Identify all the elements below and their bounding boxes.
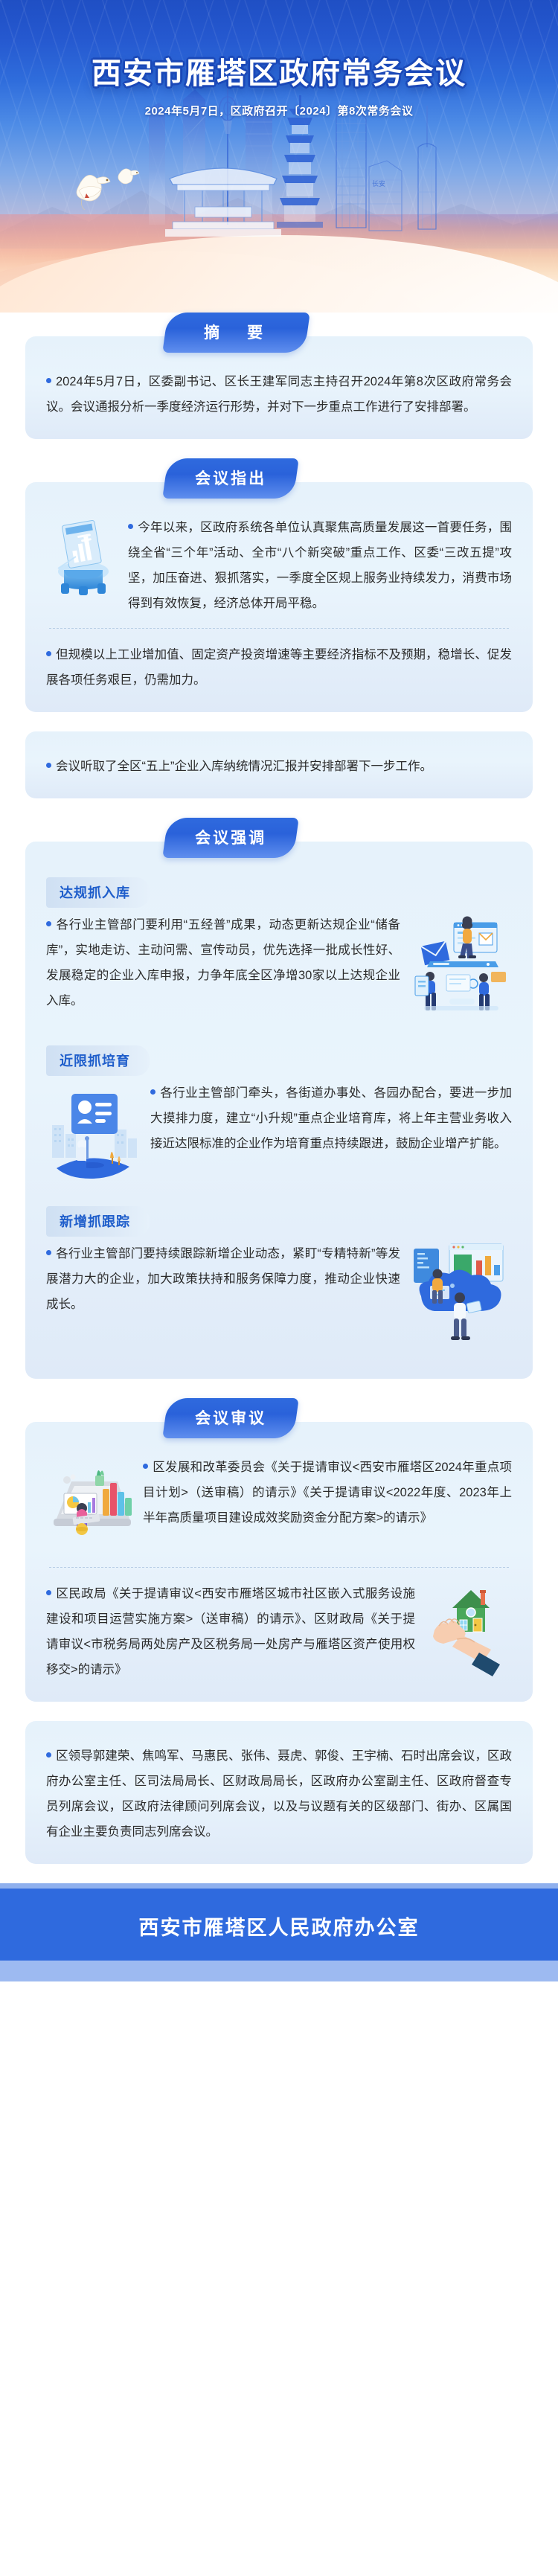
attendees-card: 区领导郭建荣、焦鸣军、马惠民、张伟、聂虎、郭俊、王宇楠、石时出席会议，区政府办公… (25, 1721, 533, 1864)
deliberated-text-column-2: 区民政局《关于提请审议<西安市雁塔区城市社区嵌入式服务设施建设和项目运营实施方案… (46, 1581, 415, 1682)
section-badge-pointed-out-label: 会议指出 (195, 467, 266, 489)
bullet-dot-icon (143, 1464, 148, 1469)
subsection-row-2: 各行业主管部门牵头，各街道办事处、各园办配合，要进一步加大摸排力度，建立“小升规… (46, 1080, 512, 1188)
bullet-dot-icon (46, 921, 51, 926)
bullet-dot-icon (46, 1752, 51, 1758)
subsection-title-new-tracking: 新增抓跟踪 (46, 1206, 150, 1237)
subsection-near-threshold: 近限抓培育 (46, 1042, 512, 1188)
section-badge-emphasized-label: 会议强调 (195, 826, 266, 848)
section-badge-deliberated: 会议审议 (162, 1398, 299, 1438)
section-report-heard: 会议听取了全区“五上”企业入库纳统情况汇报并安排部署下一步工作。 (0, 731, 558, 798)
bullet-dot-icon (46, 1590, 51, 1595)
deliberated-paragraph-1: 区发展和改革委员会《关于提请审议<西安市雁塔区2024年重点项目计划>（送审稿）… (143, 1455, 512, 1531)
section-badge-pointed-out: 会议指出 (162, 458, 299, 499)
deliberated-text-column-1: 区发展和改革委员会《关于提请审议<西安市雁塔区2024年重点项目计划>（送审稿）… (143, 1455, 512, 1531)
bullet-dot-icon (150, 1089, 155, 1095)
deliberated-card: 区发展和改革委员会《关于提请审议<西安市雁塔区2024年重点项目计划>（送审稿）… (25, 1422, 533, 1702)
report-heard-card: 会议听取了全区“五上”企业入库纳统情况汇报并安排部署下一步工作。 (25, 731, 533, 798)
bullet-dot-icon (128, 524, 133, 529)
pointed-out-card: 今年以来，区政府系统各单位认真聚焦高质量发展这一首要任务，围绕全省“三个年”活动… (25, 482, 533, 712)
section-emphasized: 会议强调 达规抓入库 各行业主管部门要利用“五经普”成果，动态更新达规企业“储备… (0, 818, 558, 1379)
house-in-hand-illustration (423, 1581, 512, 1682)
pointed-out-text-1: 今年以来，区政府系统各单位认真聚焦高质量发展这一首要任务，围绕全省“三个年”活动… (128, 521, 512, 610)
chart-document-on-pedestal-icon (46, 515, 121, 608)
abstract-paragraph: 2024年5月7日，区委副书记、区长王建军同志主持召开2024年第8次区政府常务… (46, 369, 512, 420)
dashed-divider (49, 628, 509, 629)
pointed-out-row: 今年以来，区政府系统各单位认真聚焦高质量发展这一首要任务，围绕全省“三个年”活动… (46, 515, 512, 616)
deliberated-row-1: 区发展和改革委员会《关于提请审议<西安市雁塔区2024年重点项目计划>（送审稿）… (46, 1455, 512, 1555)
team-collaboration-desk-illustration (408, 912, 512, 1028)
section-badge-emphasized: 会议强调 (162, 818, 299, 858)
hero-banner: 长安 西安市雁塔区政府常务会议 2024年5月7日，区政府召开〔2024〕第8次… (0, 0, 558, 313)
report-heard-paragraph: 会议听取了全区“五上”企业入库纳统情况汇报并安排部署下一步工作。 (46, 754, 512, 779)
subsection-text-2: 各行业主管部门牵头，各街道办事处、各园办配合，要进一步加大摸排力度，建立“小升规… (150, 1086, 512, 1150)
pointed-out-text-column: 今年以来，区政府系统各单位认真聚焦高质量发展这一首要任务，围绕全省“三个年”活动… (128, 515, 512, 616)
subsection-title-reach-standard: 达规抓入库 (46, 877, 150, 908)
footer-organization-name: 西安市雁塔区人民政府办公室 (139, 1912, 420, 1941)
laptop-charts-analytics-illustration (46, 1455, 135, 1555)
deliberated-row-2: 区民政局《关于提请审议<西安市雁塔区城市社区嵌入式服务设施建设和项目运营实施方案… (46, 1581, 512, 1682)
subsection-text-1: 各行业主管部门要利用“五经普”成果，动态更新达规企业“储备库”，实地走访、主动问… (46, 918, 400, 1007)
person-id-card-city-illustration (46, 1080, 143, 1188)
deliberated-text-1: 区发展和改革委员会《关于提请审议<西安市雁塔区2024年重点项目计划>（送审稿）… (143, 1461, 512, 1525)
subsection-text-column-3: 各行业主管部门要持续跟踪新增企业动态，紧盯“专精特新”等发展潜力大的企业，加大政… (46, 1241, 400, 1317)
attendees-text: 区领导郭建荣、焦鸣军、马惠民、张伟、聂虎、郭俊、王宇楠、石时出席会议，区政府办公… (46, 1749, 512, 1839)
svg-text:长安: 长安 (372, 179, 385, 188)
flying-doves-illustration (64, 156, 153, 216)
section-abstract: 摘 要 2024年5月7日，区委副书记、区长王建军同志主持召开2024年第8次区… (0, 313, 558, 439)
bullet-dot-icon (46, 651, 51, 656)
subsection-text-3: 各行业主管部门要持续跟踪新增企业动态，紧盯“专精特新”等发展潜力大的企业，加大政… (46, 1247, 400, 1311)
section-attendees: 区领导郭建荣、焦鸣军、马惠民、张伟、聂虎、郭俊、王宇楠、石时出席会议，区政府办公… (0, 1721, 558, 1864)
dashed-divider (49, 1567, 509, 1568)
attendees-paragraph: 区领导郭建荣、焦鸣军、马惠民、张伟、聂虎、郭俊、王宇楠、石时出席会议，区政府办公… (46, 1743, 512, 1845)
subsection-reach-standard: 达规抓入库 各行业主管部门要利用“五经普”成果，动态更新达规企业“储备库”，实地… (46, 874, 512, 1028)
subsection-row-3: 各行业主管部门要持续跟踪新增企业动态，紧盯“专精特新”等发展潜力大的企业，加大政… (46, 1241, 512, 1356)
footer-banner: 西安市雁塔区人民政府办公室 (0, 1883, 558, 1981)
section-deliberated: 会议审议 (0, 1398, 558, 1702)
section-badge-abstract-label: 摘 要 (204, 321, 269, 343)
subsection-paragraph-3: 各行业主管部门要持续跟踪新增企业动态，紧盯“专精特新”等发展潜力大的企业，加大政… (46, 1241, 400, 1317)
section-badge-abstract: 摘 要 (162, 313, 310, 353)
pointed-out-paragraph-2: 但规模以上工业增加值、固定资产投资增速等主要经济指标不及预期，稳增长、促发展各项… (46, 642, 512, 693)
content-body: 摘 要 2024年5月7日，区委副书记、区长王建军同志主持召开2024年第8次区… (0, 313, 558, 1864)
emphasized-card: 达规抓入库 各行业主管部门要利用“五经普”成果，动态更新达规企业“储备库”，实地… (25, 842, 533, 1379)
hero-title-block: 西安市雁塔区政府常务会议 2024年5月7日，区政府召开〔2024〕第8次常务会… (0, 49, 558, 118)
footer-top-band-decoration (0, 1883, 558, 1888)
subsection-row-1: 各行业主管部门要利用“五经普”成果，动态更新达规企业“储备库”，实地走访、主动问… (46, 912, 512, 1028)
footer-bottom-band-decoration (0, 1961, 558, 1981)
section-badge-deliberated-label: 会议审议 (195, 1406, 266, 1429)
page-subtitle: 2024年5月7日，区政府召开〔2024〕第8次常务会议 (0, 103, 558, 118)
subsection-title-near-threshold: 近限抓培育 (46, 1045, 150, 1076)
abstract-text: 2024年5月7日，区委副书记、区长王建军同志主持召开2024年第8次区政府常务… (46, 375, 512, 414)
data-dashboard-cloud-illustration (408, 1241, 512, 1356)
subsection-new-tracking: 新增抓跟踪 各行业主管部门要持续跟踪新增企业动态，紧盯“专精特新”等发展潜力大的… (46, 1203, 512, 1356)
pointed-out-paragraph-1: 今年以来，区政府系统各单位认真聚焦高质量发展这一首要任务，围绕全省“三个年”活动… (128, 515, 512, 616)
deliberated-text-2: 区民政局《关于提请审议<西安市雁塔区城市社区嵌入式服务设施建设和项目运营实施方案… (46, 1587, 415, 1676)
page-title: 西安市雁塔区政府常务会议 (0, 49, 558, 92)
bullet-dot-icon (46, 1250, 51, 1255)
subsection-text-column-1: 各行业主管部门要利用“五经普”成果，动态更新达规企业“储备库”，实地走访、主动问… (46, 912, 400, 1013)
report-heard-text: 会议听取了全区“五上”企业入库纳统情况汇报并安排部署下一步工作。 (56, 760, 432, 773)
section-pointed-out: 会议指出 (0, 458, 558, 712)
bullet-dot-icon (46, 378, 51, 383)
subsection-paragraph-1: 各行业主管部门要利用“五经普”成果，动态更新达规企业“储备库”，实地走访、主动问… (46, 912, 400, 1013)
pointed-out-text-2: 但规模以上工业增加值、固定资产投资增速等主要经济指标不及预期，稳增长、促发展各项… (46, 648, 512, 687)
subsection-paragraph-2: 各行业主管部门牵头，各街道办事处、各园办配合，要进一步加大摸排力度，建立“小升规… (150, 1080, 512, 1156)
bullet-dot-icon (46, 763, 51, 768)
deliberated-paragraph-2: 区民政局《关于提请审议<西安市雁塔区城市社区嵌入式服务设施建设和项目运营实施方案… (46, 1581, 415, 1682)
subsection-text-column-2: 各行业主管部门牵头，各街道办事处、各园办配合，要进一步加大摸排力度，建立“小升规… (150, 1080, 512, 1156)
